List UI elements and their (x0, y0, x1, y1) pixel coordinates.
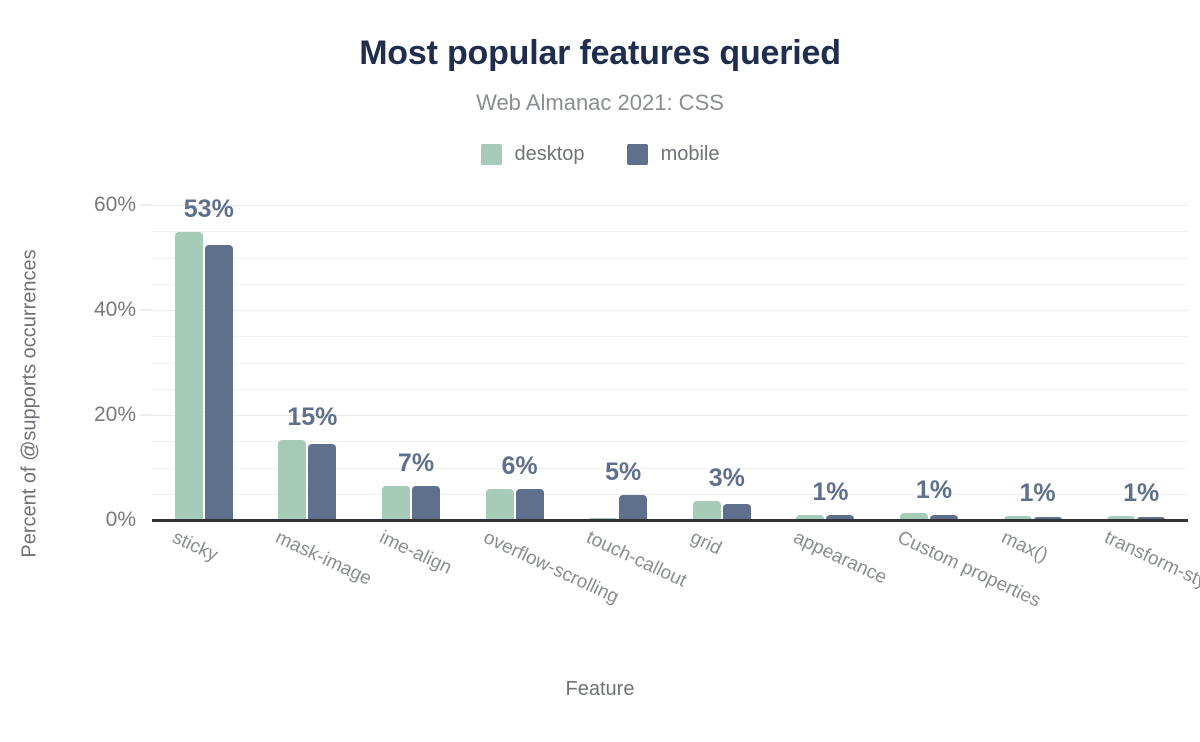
gridline (152, 389, 1188, 390)
bar-desktop-sticky[interactable] (175, 232, 203, 520)
plot-area: 53%15%7%6%5%3%1%1%1%1% (152, 205, 1188, 520)
bar-desktop-ime-align[interactable] (382, 486, 410, 520)
legend-swatch-desktop (481, 144, 502, 165)
bar-mobile-overflow-scrolling[interactable] (516, 489, 544, 521)
chart-legend: desktopmobile (0, 143, 1200, 166)
x-axis-label-ime-align: ime-align (376, 527, 455, 580)
x-axis-label-sticky: sticky (168, 527, 220, 567)
bar-value-label: 7% (398, 449, 434, 478)
y-axis-tick-label: 40% (56, 298, 136, 322)
legend-swatch-mobile (627, 144, 648, 165)
chart-root: Most popular features queried Web Almana… (0, 0, 1200, 742)
legend-label-desktop: desktop (515, 143, 585, 166)
y-axis-title: Percent of @supports occurrences (19, 144, 42, 664)
bar-desktop-overflow-scrolling[interactable] (486, 489, 514, 521)
chart-title: Most popular features queried (0, 34, 1200, 73)
x-axis-label-mask-image: mask-image (272, 527, 375, 591)
x-axis-baseline (152, 519, 1188, 522)
bar-value-label: 15% (287, 403, 337, 432)
chart-subtitle: Web Almanac 2021: CSS (0, 90, 1200, 116)
y-axis-tick-mark (140, 415, 152, 416)
y-axis-tick-mark (140, 205, 152, 206)
bar-mobile-touch-callout[interactable] (619, 495, 647, 520)
x-axis-label-grid: grid (686, 527, 724, 560)
bar-desktop-grid[interactable] (693, 501, 721, 520)
y-axis-tick-mark (140, 310, 152, 311)
legend-item-mobile[interactable]: mobile (627, 143, 720, 166)
bar-value-label: 1% (1020, 479, 1056, 508)
gridline (152, 284, 1188, 285)
legend-label-mobile: mobile (661, 143, 720, 166)
gridline (152, 363, 1188, 364)
gridline (152, 258, 1188, 259)
bar-value-label: 5% (605, 458, 641, 487)
y-axis-tick-label: 60% (56, 193, 136, 217)
bar-value-label: 1% (916, 476, 952, 505)
gridline (152, 310, 1188, 311)
bar-mobile-mask-image[interactable] (308, 444, 336, 520)
x-axis-label-transform-style: transform-style (1101, 527, 1200, 600)
x-axis-title: Feature (0, 678, 1200, 701)
bar-mobile-sticky[interactable] (205, 245, 233, 520)
gridline (152, 336, 1188, 337)
bar-value-label: 53% (184, 195, 234, 224)
y-axis-tick-label: 20% (56, 403, 136, 427)
bar-desktop-mask-image[interactable] (278, 440, 306, 520)
gridline (152, 231, 1188, 232)
bar-mobile-ime-align[interactable] (412, 486, 440, 520)
bar-mobile-grid[interactable] (723, 504, 751, 520)
gridline (152, 468, 1188, 469)
legend-item-desktop[interactable]: desktop (481, 143, 585, 166)
gridline (152, 441, 1188, 442)
y-axis-tick-label: 0% (56, 508, 136, 532)
x-axis-label-appearance: appearance (790, 527, 890, 589)
bar-value-label: 3% (709, 464, 745, 493)
bar-value-label: 1% (812, 478, 848, 507)
gridline (152, 205, 1188, 206)
x-axis-label-max-: max() (997, 527, 1050, 567)
bar-value-label: 1% (1123, 479, 1159, 508)
bar-value-label: 6% (502, 452, 538, 481)
